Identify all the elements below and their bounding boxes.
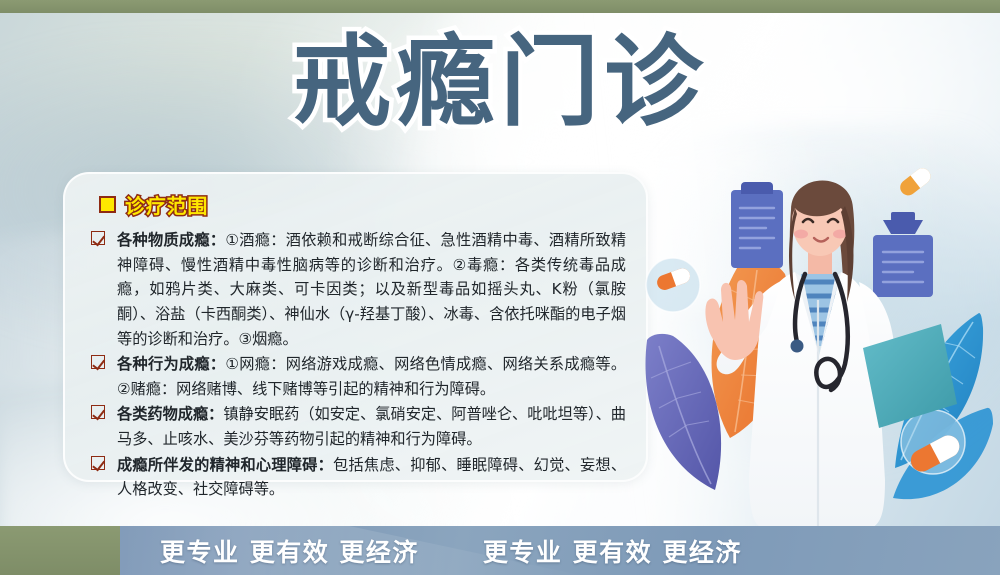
- bottom-banner: 更专业 更有效 更经济 更专业 更有效 更经济: [0, 526, 1000, 575]
- page-title-text: 戒瘾门诊: [292, 28, 708, 139]
- medical-chart-left: [731, 182, 783, 268]
- list-item: 各种物质成瘾：①酒瘾：酒依赖和戒断综合征、急性酒精中毒、酒精所致精神障碍、慢性酒…: [87, 228, 626, 351]
- checkbox-checked-icon: [91, 231, 105, 245]
- list-item: 成瘾所伴发的精神和心理障碍：包括焦虑、抑郁、睡眠障碍、幻觉、妄想、人格改变、社交…: [87, 453, 626, 502]
- list-item: 各类药物成瘾：镇静安眠药（如安定、氯硝安定、阿普唑仑、吡吡坦等）、曲马多、止咳水…: [87, 402, 626, 451]
- page-title: 戒瘾门诊: [0, 28, 1000, 139]
- stethoscope-chestpiece: [791, 340, 804, 353]
- medicine-bottle-right: [873, 212, 933, 297]
- list-item-lead: 各种行为成瘾：: [117, 355, 225, 373]
- checkbox-checked-icon: [91, 456, 105, 470]
- poster-root: 戒瘾门诊 诊疗范围 各种物质成瘾：①酒瘾：酒依赖和戒断综合征、急性酒精中毒、酒精…: [0, 0, 1000, 575]
- scope-card-heading: 诊疗范围: [99, 190, 626, 219]
- list-item: 各种行为成瘾：①网瘾：网络游戏成瘾、网络色情成瘾、网络关系成瘾等。②赌瘾：网络赌…: [87, 352, 626, 401]
- capsule-pill-bubble-left: [646, 258, 700, 312]
- slogan-group: 更专业 更有效 更经济 更专业 更有效 更经济: [120, 526, 1000, 575]
- banner-olive-block: [0, 526, 120, 575]
- slogan-text: 更专业 更有效 更经济: [160, 533, 419, 569]
- checkbox-checked-icon: [91, 405, 105, 419]
- yellow-square-icon: [99, 196, 116, 213]
- purple-leaf: [645, 334, 721, 490]
- capsule-pill-bubble-right: [901, 410, 965, 475]
- list-item-lead: 各类药物成瘾：: [117, 405, 223, 423]
- list-item-lead: 成瘾所伴发的精神和心理障碍：: [117, 456, 333, 474]
- female-doctor-illustration: [645, 150, 1000, 530]
- slogan-text: 更专业 更有效 更经济: [483, 533, 742, 569]
- checkbox-checked-icon: [91, 355, 105, 369]
- top-olive-strip: [0, 0, 1000, 13]
- capsule-pill-top: [897, 165, 934, 199]
- scope-card: 诊疗范围 各种物质成瘾：①酒瘾：酒依赖和戒断综合征、急性酒精中毒、酒精所致精神障…: [63, 172, 648, 482]
- scope-item-list: 各种物质成瘾：①酒瘾：酒依赖和戒断综合征、急性酒精中毒、酒精所致精神障碍、慢性酒…: [87, 228, 626, 502]
- list-item-lead: 各种物质成瘾：: [117, 231, 225, 249]
- scope-heading-label: 诊疗范围: [125, 190, 208, 219]
